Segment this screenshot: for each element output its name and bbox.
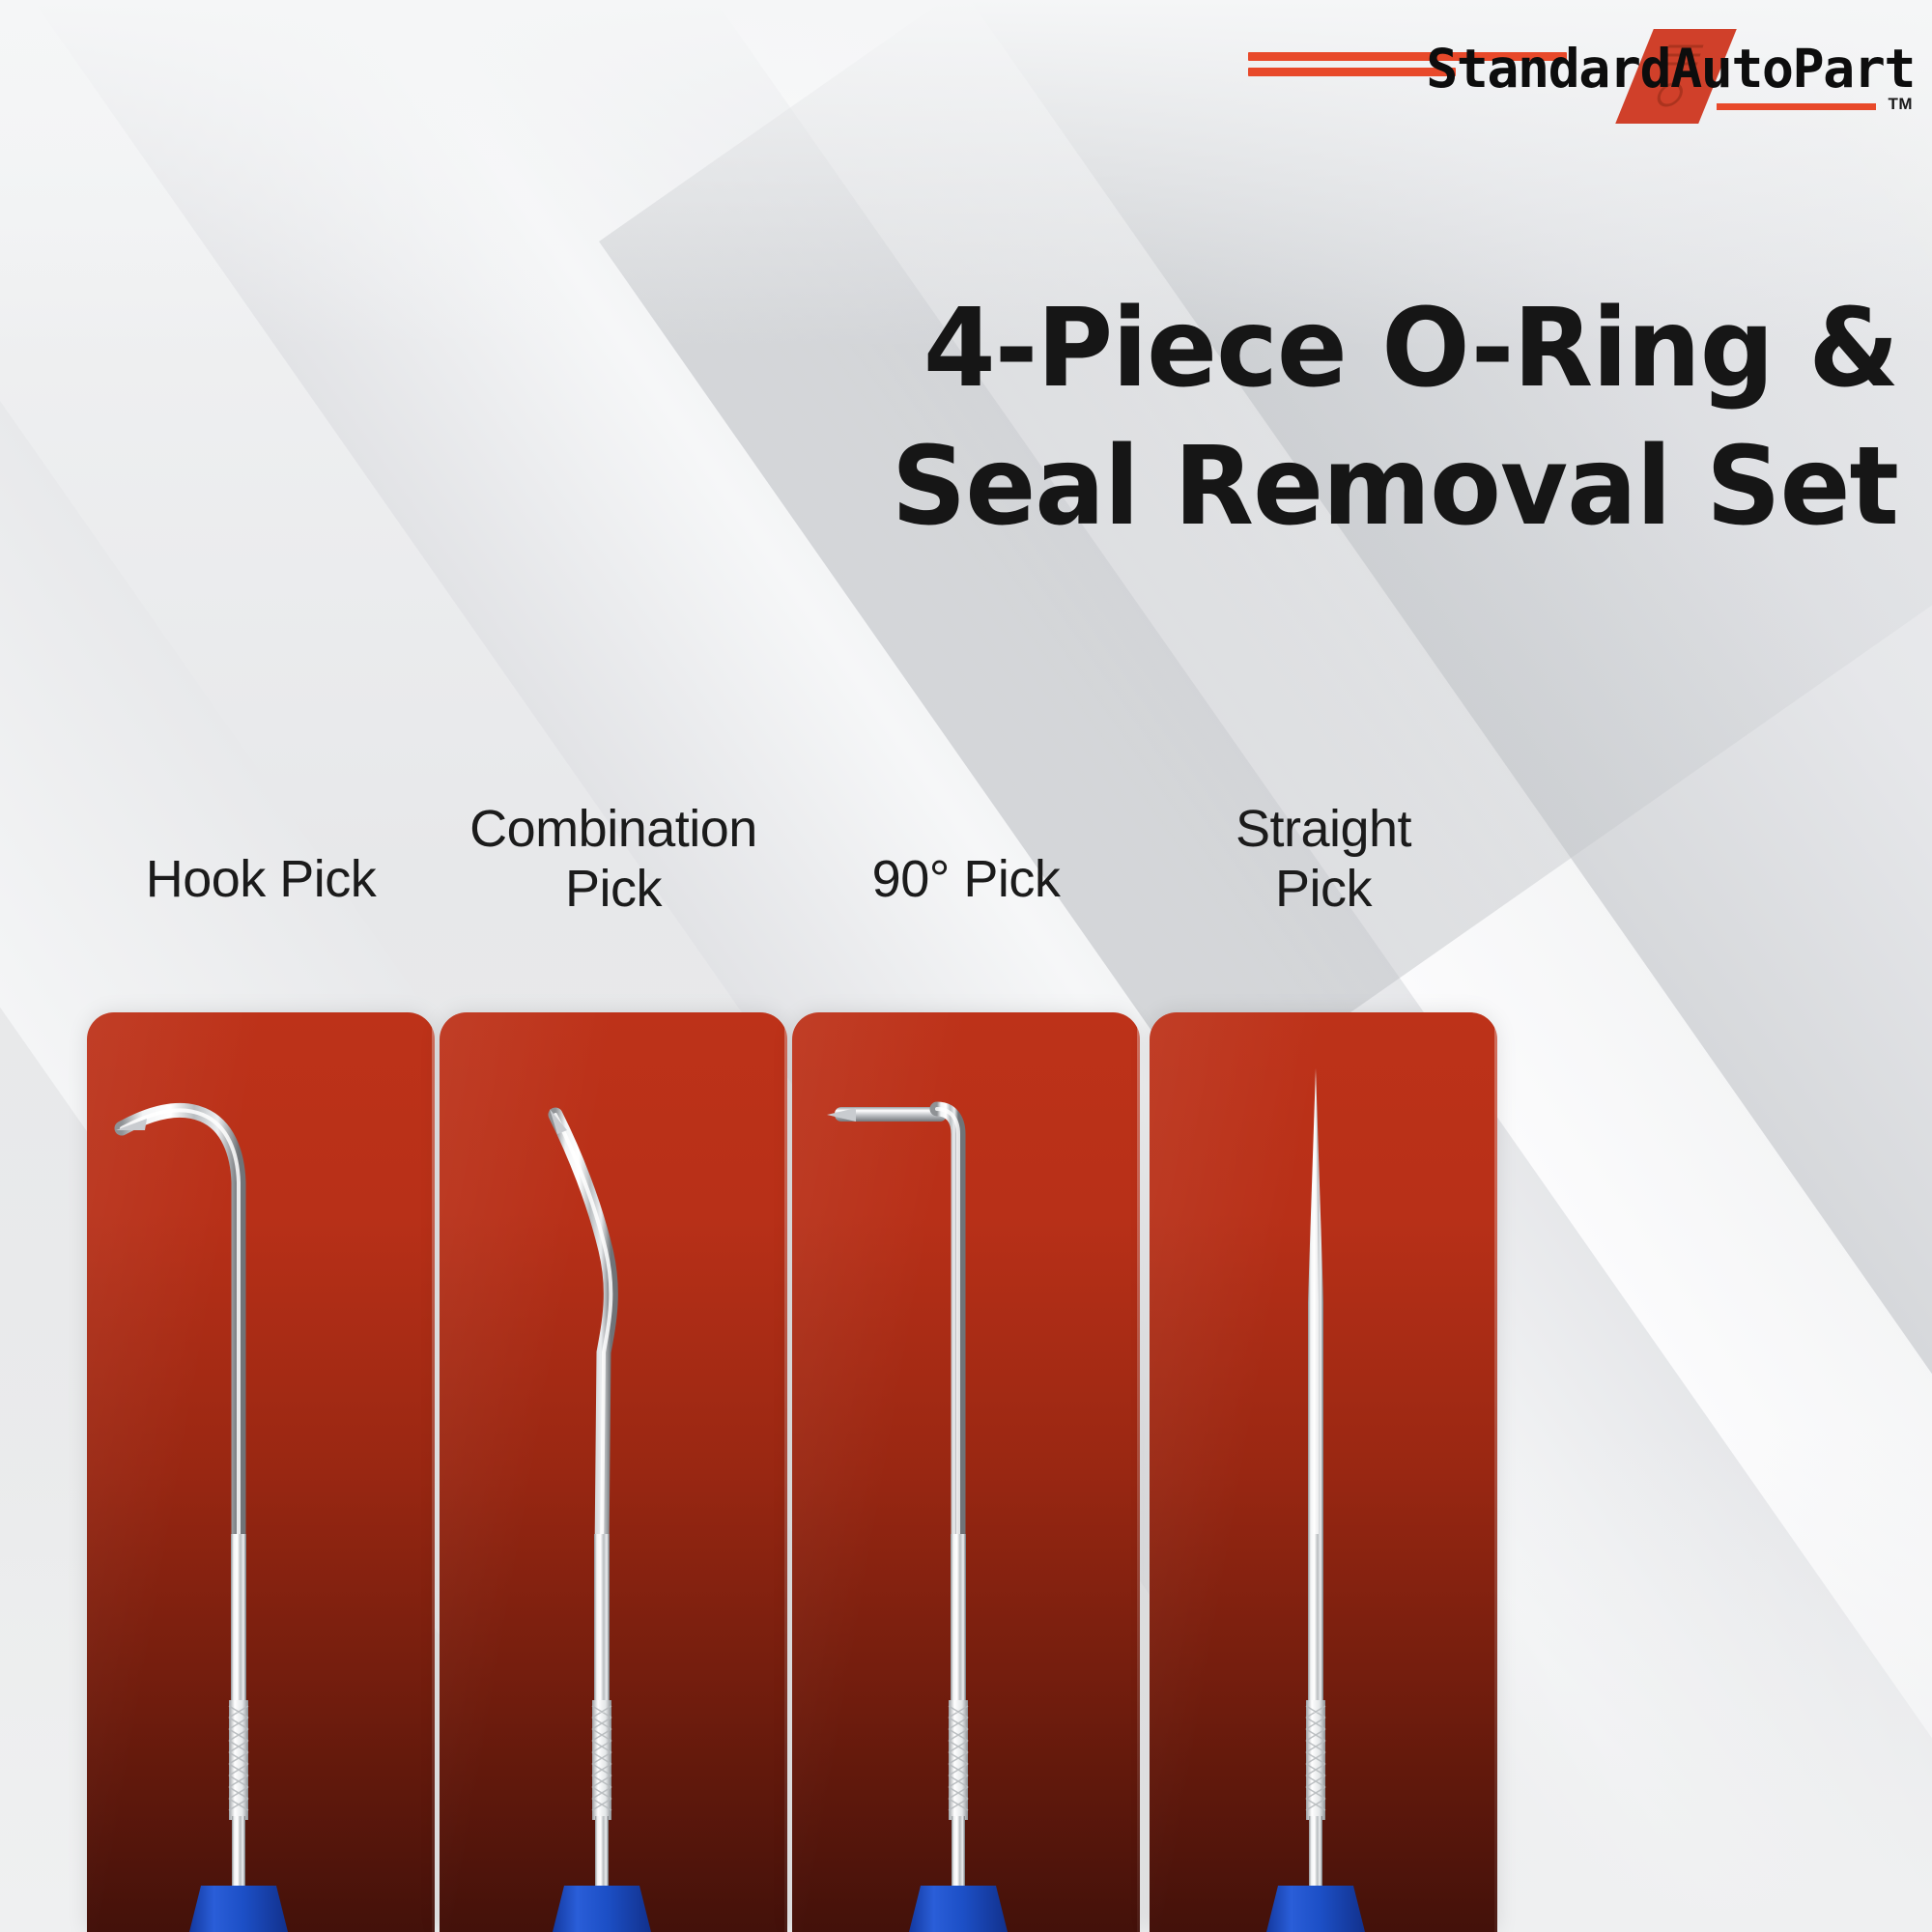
product-label-combination-pick: Combination Pick <box>411 800 816 919</box>
product-card-ninety-degree-pick <box>792 1012 1140 1932</box>
product-item-ninety-degree-pick: 90° Pick <box>792 850 1140 1932</box>
card-sheen <box>440 1012 787 1932</box>
card-sheen <box>1150 1012 1497 1932</box>
card-edge-highlight <box>1137 1012 1140 1932</box>
product-label-line-1: 90° Pick <box>872 850 1061 908</box>
title-line-2: Seal Removal Set <box>674 418 1898 556</box>
product-infographic: StandardAutoPart TM 4-Piece O-Ring & Sea… <box>0 0 1932 1932</box>
brand-logo: StandardAutoPart TM <box>1248 27 1915 116</box>
product-item-straight-pick: Straight Pick <box>1150 850 1497 1932</box>
product-label-line-1: Hook Pick <box>146 850 377 908</box>
card-edge-highlight <box>784 1012 787 1932</box>
product-label-line-1: Combination <box>469 800 757 858</box>
card-edge-highlight <box>1494 1012 1497 1932</box>
trademark-symbol: TM <box>1888 95 1913 114</box>
product-card-straight-pick <box>1150 1012 1497 1932</box>
product-label-line-1: Straight <box>1236 800 1411 858</box>
product-row: Hook Pick <box>0 850 1932 1932</box>
card-sheen <box>87 1012 435 1932</box>
logo-wordmark: StandardAutoPart <box>1325 43 1915 96</box>
product-label-line-2: Pick <box>565 860 662 918</box>
product-label-ninety-degree-pick: 90° Pick <box>763 850 1169 910</box>
title-line-1: 4-Piece O-Ring & <box>674 280 1898 418</box>
product-label-straight-pick: Straight Pick <box>1121 800 1526 919</box>
page-title: 4-Piece O-Ring & Seal Removal Set <box>674 280 1898 557</box>
product-card-combination-pick <box>440 1012 787 1932</box>
product-item-hook-pick: Hook Pick <box>87 850 435 1932</box>
card-sheen <box>792 1012 1140 1932</box>
product-item-combination-pick: Combination Pick <box>440 850 787 1932</box>
product-label-line-2: Pick <box>1275 860 1372 918</box>
product-card-hook-pick <box>87 1012 435 1932</box>
card-edge-highlight <box>432 1012 435 1932</box>
product-label-hook-pick: Hook Pick <box>58 850 464 910</box>
logo-underline <box>1717 103 1876 110</box>
